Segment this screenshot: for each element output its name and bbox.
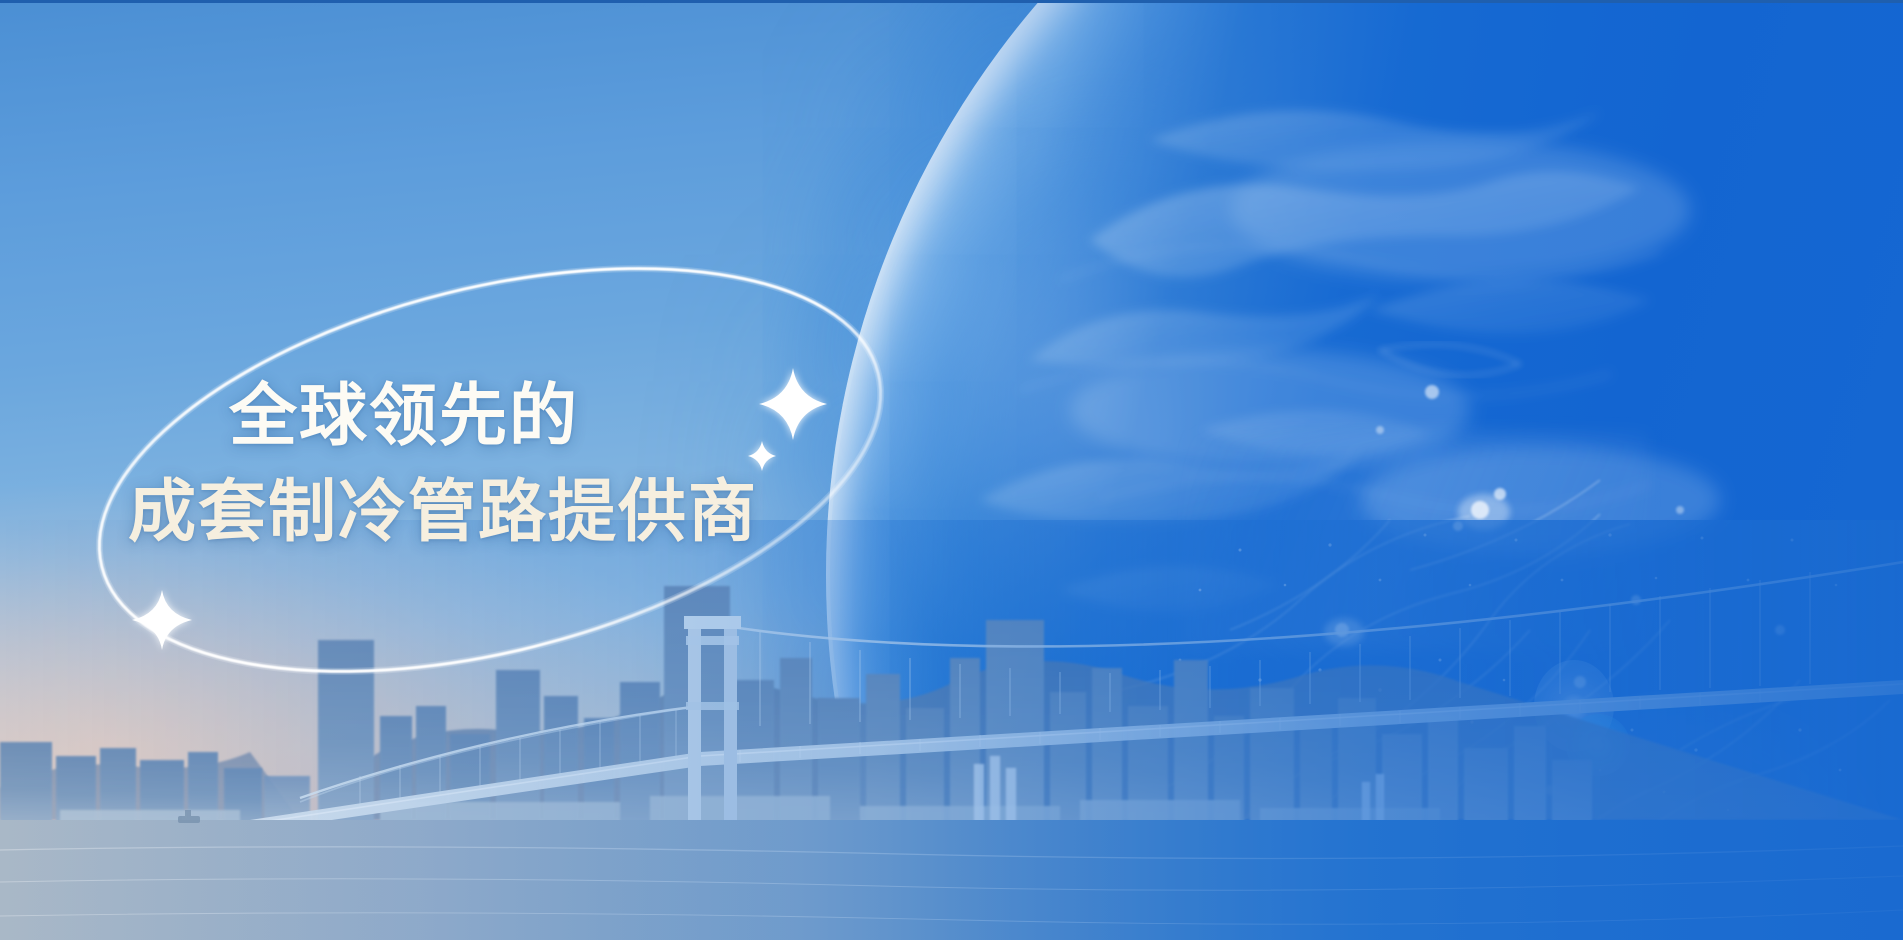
cityscape-scene: [0, 520, 1903, 940]
hero-banner: 全球领先的 成套制冷管路提供商: [0, 0, 1903, 940]
headline-line-2: 成套制冷管路提供商: [128, 468, 888, 556]
top-edge-strip: [0, 0, 1903, 3]
headline-line-1: 全球领先的: [229, 372, 888, 460]
hero-headline: 全球领先的 成套制冷管路提供商: [128, 372, 888, 557]
